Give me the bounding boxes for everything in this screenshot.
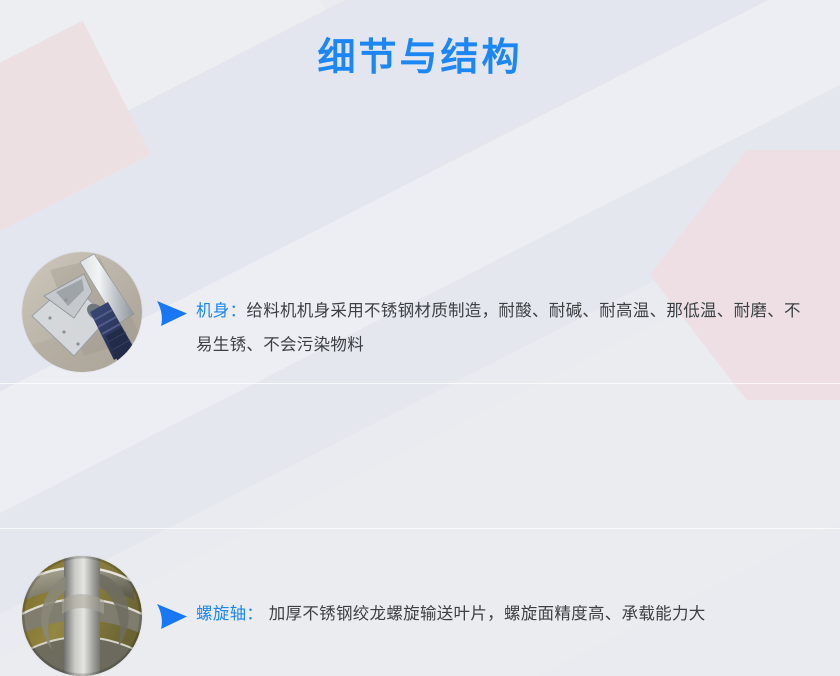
screw-conveyor-photo [22, 252, 142, 372]
feature-row: 机身：给料机机身采用不锈钢材质制造，耐酸、耐碱、耐高温、那低温、耐磨、不易生锈、… [0, 142, 840, 262]
feature-body: 加厚不锈钢绞龙螺旋输送叶片，螺旋面精度高、承载能力大 [263, 604, 705, 623]
content-area: 细节与结构 [0, 0, 840, 676]
page-root: 细节与结构 [0, 0, 840, 676]
feature-label: 螺旋轴： [196, 604, 263, 623]
play-arrow-icon [155, 298, 189, 328]
feature-text: 螺旋轴： 加厚不锈钢绞龙螺旋输送叶片，螺旋面精度高、承载能力大 [196, 597, 814, 631]
auger-spiral-photo [22, 556, 142, 676]
page-title: 细节与结构 [0, 32, 840, 82]
feature-text: 机身：给料机机身采用不锈钢材质制造，耐酸、耐碱、耐高温、那低温、耐磨、不易生锈、… [196, 294, 814, 362]
feature-body: 给料机机身采用不锈钢材质制造，耐酸、耐碱、耐高温、那低温、耐磨、不易生锈、不会污… [196, 301, 801, 354]
feature-label: 机身： [196, 301, 246, 320]
play-arrow-icon [155, 601, 189, 631]
feature-row: 电机： 三相异步电机，马力充足、力矩大、寿命长、噪音低，一年内出现问题可免费退换 [0, 430, 840, 550]
